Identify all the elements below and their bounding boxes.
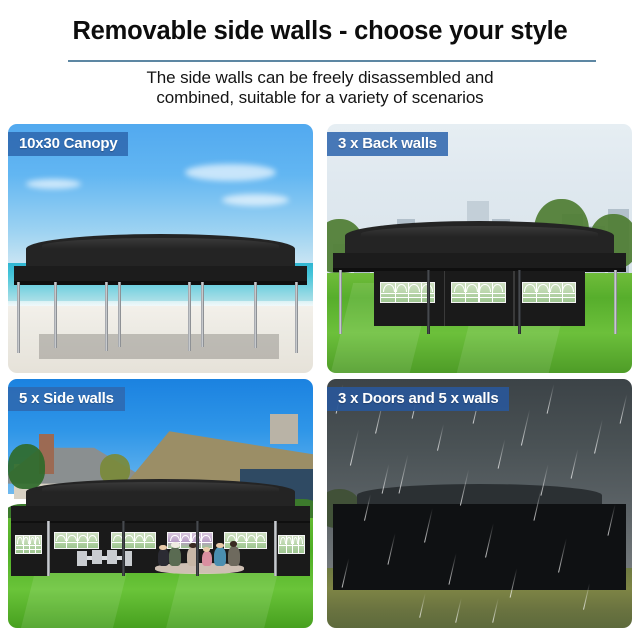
window-arch [562,284,574,292]
window-arch [396,284,408,292]
patio-chair [92,550,102,565]
cloud-icon [222,194,289,206]
scene-city-lawn [327,124,632,373]
person-head [216,543,224,548]
window-arch [492,284,504,292]
wall-window [15,535,42,554]
person [228,546,240,566]
side-wall-end-left [11,523,47,575]
patio-chair [107,550,117,565]
window-arch [550,284,562,292]
person [158,548,170,565]
cloud-icon [26,179,81,189]
scene-beach [8,124,313,373]
roof-highlight [42,482,279,492]
canopy-leg [122,521,125,576]
window-arch [479,284,491,292]
canopy-leg [47,521,50,576]
person [214,547,226,566]
window-arch [524,284,536,292]
panel-badge-side-walls: 5 x Side walls [8,387,125,411]
panel-canopy-only[interactable]: 10x30 Canopy [8,124,313,373]
canopy-leg [17,282,20,353]
page-title: Removable side walls - choose your style [0,17,640,46]
canopy-leg [614,270,617,335]
panel-badge-doors-and-walls: 3 x Doors and 5 x walls [327,387,509,411]
enclosed-wall-run [333,504,626,589]
canopy-leg [254,282,257,348]
canopy-leg [196,521,199,576]
person-head [159,545,167,550]
person-head [230,541,238,546]
panel-back-walls[interactable]: 3 x Back walls [327,124,632,373]
canopy-leg [518,270,521,335]
window-arch [454,284,466,292]
canopy-leg [295,282,298,353]
panel-badge-canopy-only: 10x30 Canopy [8,132,128,156]
canopy-leg [427,270,430,335]
header: Removable side walls - choose your style… [0,0,640,120]
wall-window [451,282,506,303]
canopy-structure [333,221,626,346]
roof-highlight [42,238,279,249]
panel-badge-back-walls: 3 x Back walls [327,132,448,156]
valance-edge [14,281,307,285]
infographic-page: Removable side walls - choose your style… [0,0,640,640]
canopy-structure [14,234,307,359]
wall-window [278,535,305,554]
chimney [270,414,297,444]
wall-window [54,532,99,549]
window-arch [537,284,549,292]
header-divider [68,60,596,62]
canopy-leg [201,282,204,347]
scene-backyard [8,379,313,628]
window-arch [466,284,478,292]
canopy-leg [105,282,108,350]
panel-side-walls[interactable]: 5 x Side walls [8,379,313,628]
scene-rain [327,379,632,628]
wall-seam [444,271,445,326]
patio-chair [77,551,87,566]
wall-window [522,282,577,303]
window-arch [408,284,420,292]
side-wall-end-right [274,523,310,575]
subtitle-line-1: The side walls can be freely disassemble… [0,68,640,88]
canopy-leg [118,282,121,347]
canopy-structure [333,484,626,613]
canopy-leg [54,282,57,348]
canopy-leg [274,521,277,576]
person-child [202,551,212,566]
panel-doors-and-walls[interactable]: 3 x Doors and 5 x walls [327,379,632,628]
back-wall-run [374,271,585,326]
canopy-leg [339,270,342,335]
subtitle-line-2: combined, suitable for a variety of scen… [0,88,640,108]
roof-highlight [361,226,598,237]
wall-window [111,532,156,549]
canopy-structure [11,479,310,604]
person [169,547,181,566]
person-head-with-hat [171,542,181,548]
canopy-leg [188,282,191,350]
window-arch [383,284,395,292]
wall-seam [513,271,514,326]
page-subtitle: The side walls can be freely disassemble… [0,68,640,107]
